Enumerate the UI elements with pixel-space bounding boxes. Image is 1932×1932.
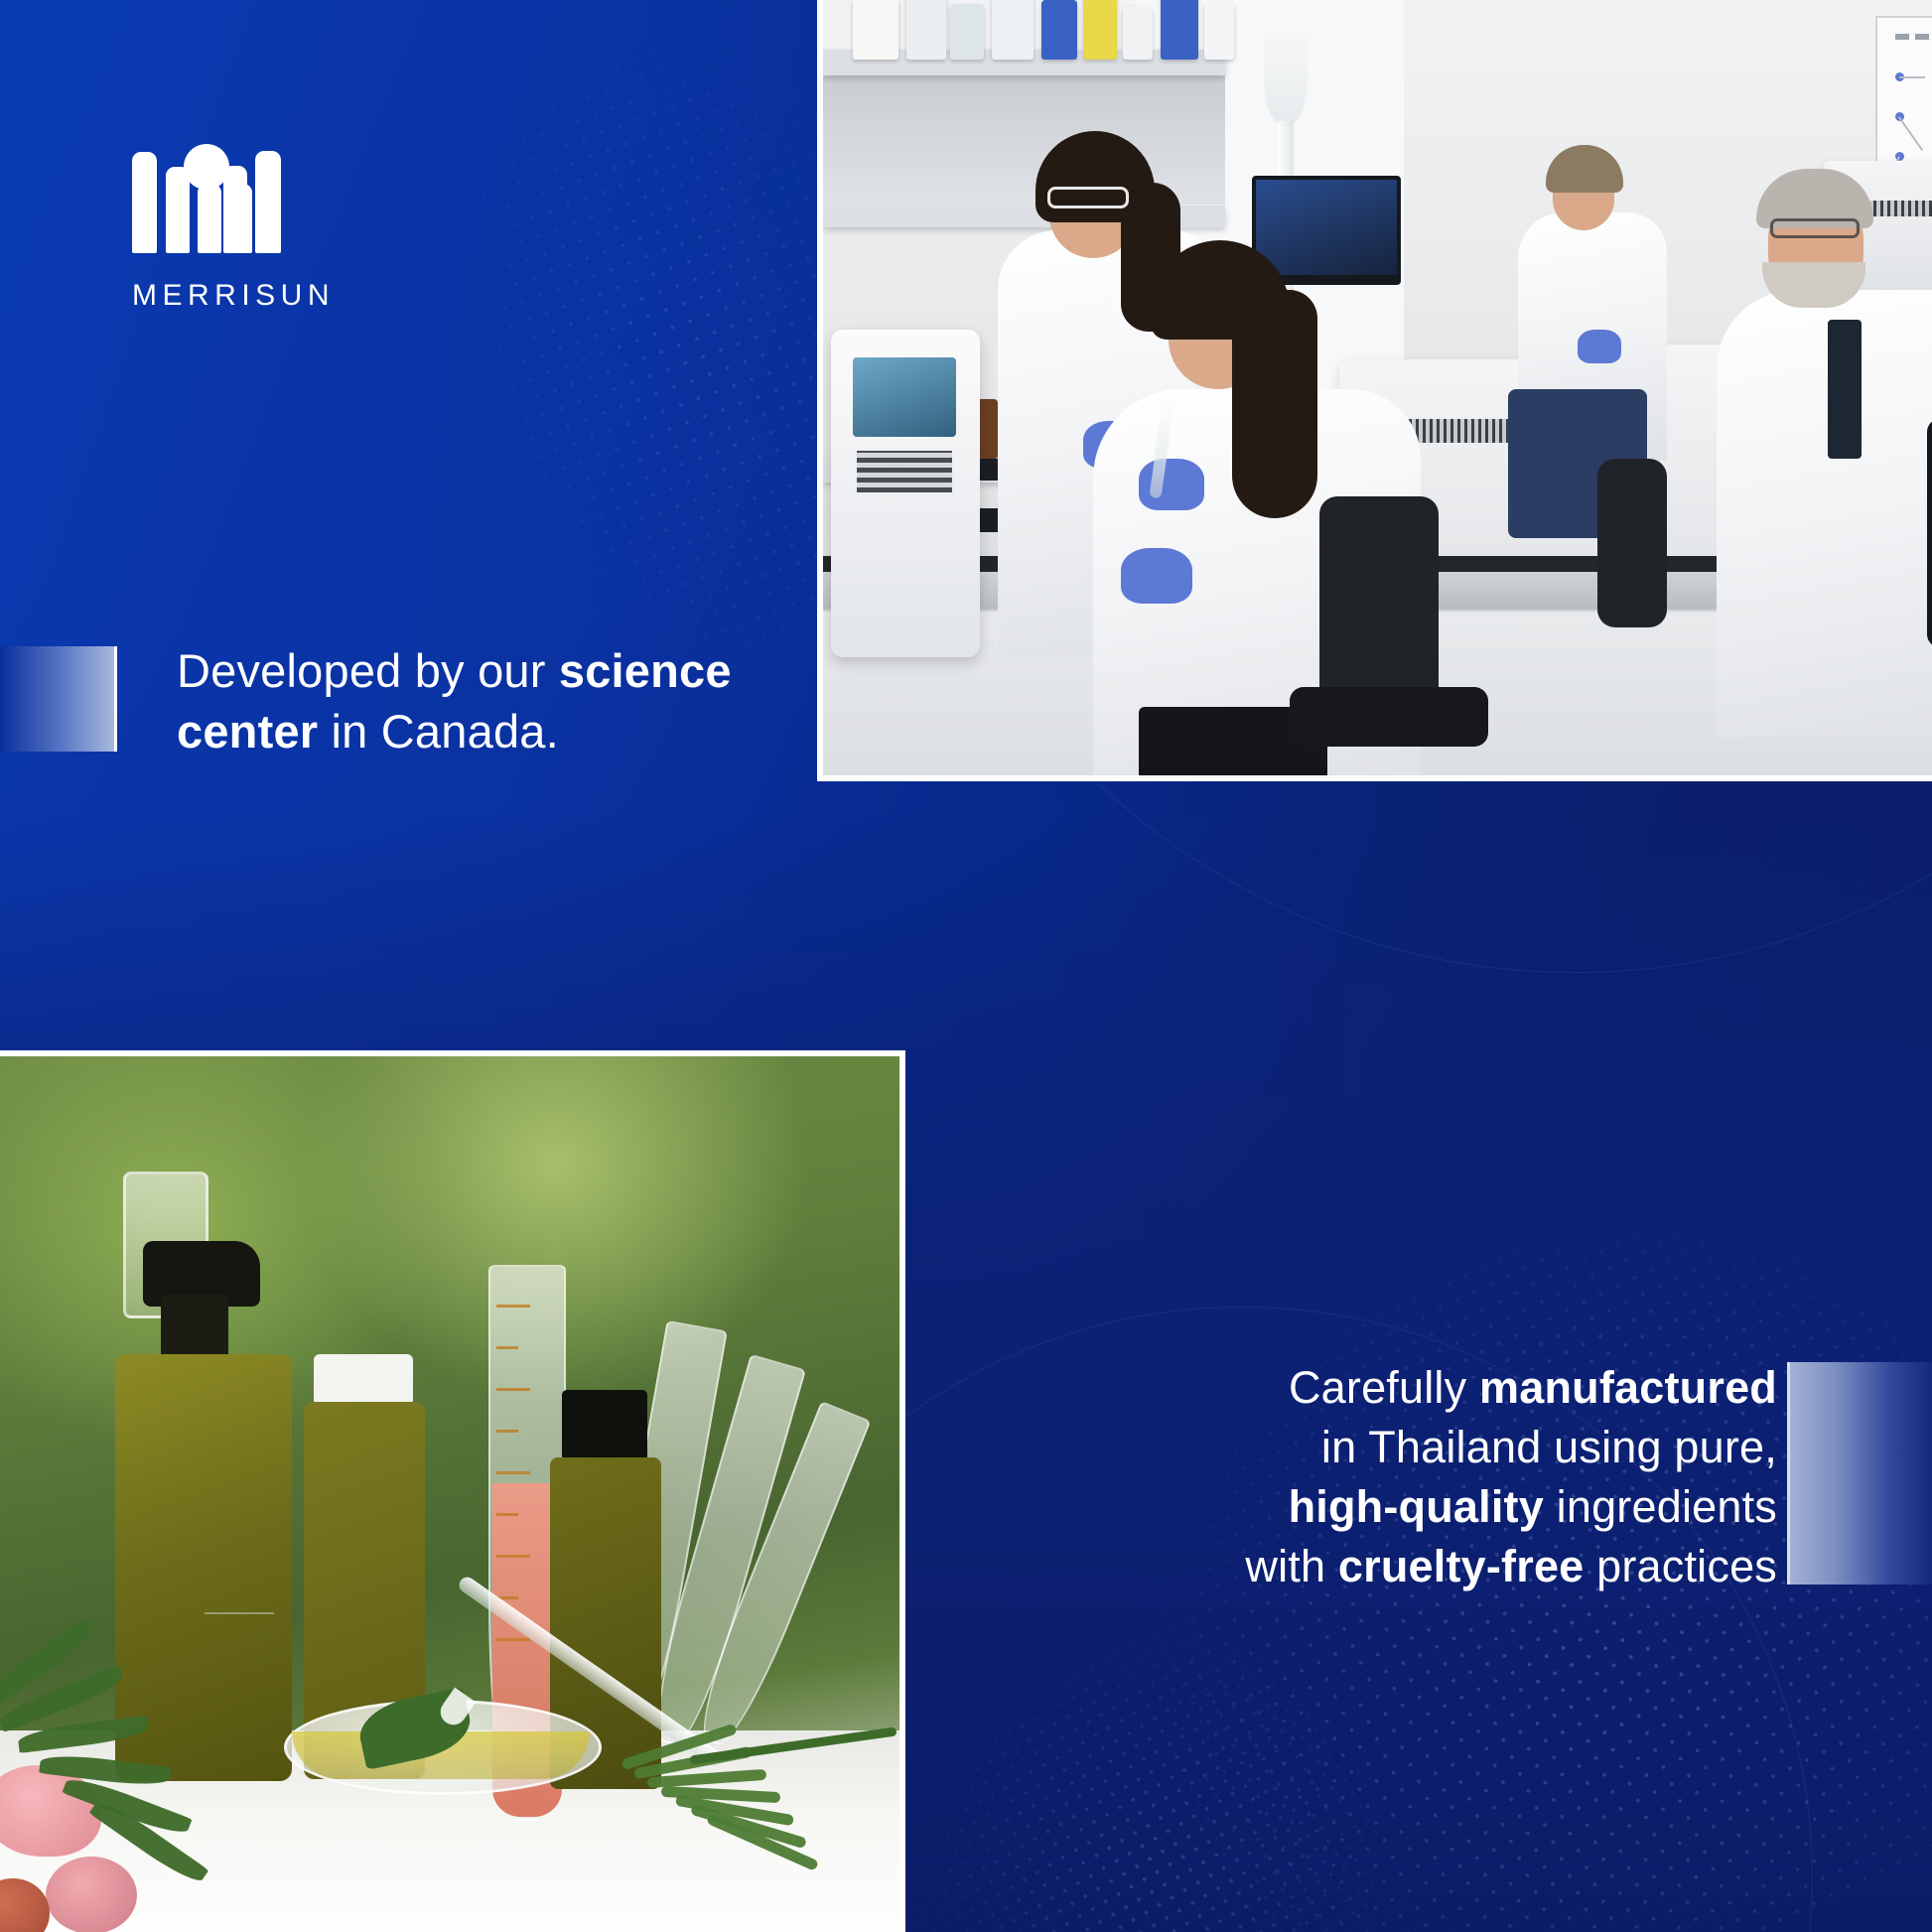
cylinder-graduation [496,1555,530,1558]
molecule-bond [1899,76,1925,78]
blue-glove [1121,548,1192,604]
glass-funnel [1264,32,1308,127]
product-bottles-photo [0,1050,905,1932]
eyeglasses [1770,218,1860,238]
cylinder-scale-label [502,1287,554,1303]
brand-logo: MERRISUN [132,142,335,313]
headline-manufactured-thailand: Carefully manufactured in Thailand using… [854,1358,1777,1595]
lab-coat [1717,290,1932,737]
black-cap [562,1390,647,1461]
accent-bar-right [1787,1362,1932,1585]
headline-line-1-plain: Developed by our [177,644,559,697]
reagent-bottle [1123,6,1153,60]
subcopy-line-4-tail: practices [1584,1541,1777,1591]
sun-over-bars-icon [132,142,281,253]
bottle-measure-mark [199,1493,274,1513]
blue-glove [1139,459,1204,510]
brand-wordmark: MERRISUN [132,279,335,313]
safety-goggles [1047,187,1129,208]
cylinder-graduation [496,1471,530,1474]
subcopy-line-1-bold: manufactured [1479,1362,1777,1413]
reagent-bottle [906,0,946,60]
subcopy-line-1: Carefully manufactured [854,1358,1777,1418]
cylinder-graduation [496,1638,530,1641]
headline-line-1-bold: science [559,644,732,697]
accent-bar-left [0,646,117,752]
cylinder-graduation [496,1388,530,1391]
subcopy-line-3-plain: ingredients [1544,1481,1777,1532]
cylinder-graduation [496,1305,530,1308]
subcopy-line-3-bold: high-quality [1289,1481,1544,1532]
reagent-bottle [853,0,898,60]
headline-developed-canada: Developed by our science center in Canad… [177,640,812,761]
molecule-bond [1898,116,1923,150]
subcopy-line-4: with cruelty-free practices [854,1537,1777,1596]
pink-flower [46,1857,137,1932]
white-cap [314,1354,413,1406]
necktie [1828,320,1862,459]
reagent-bottle [950,4,984,60]
headline-line-1: Developed by our science [177,640,812,701]
blue-glove [1578,330,1621,363]
subcopy-line-3: high-quality ingredients [854,1477,1777,1537]
subcopy-line-2: in Thailand using pure, [854,1418,1777,1477]
subcopy-line-1-plain: Carefully [1289,1362,1479,1413]
cylinder-graduation [496,1346,518,1349]
analyzer-screen [853,357,956,437]
poster-title-text [1895,34,1932,40]
headline-line-2-plain: in Canada. [318,705,559,758]
reagent-bottle [1161,0,1198,60]
subcopy-line-4-bold: cruelty-free [1338,1541,1585,1591]
science-lab-photo [817,0,1932,781]
cylinder-graduation [496,1513,518,1516]
reagent-bottle [992,0,1034,60]
ponytail [1232,290,1317,518]
subcopy-line-2-plain: in Thailand using pure, [1321,1422,1777,1472]
reagent-bottle [1041,0,1077,60]
monitor-screen [1256,180,1397,275]
analyzer-keypad [857,451,952,492]
reagent-bottle [1083,0,1117,60]
brand-graphic-canvas: MERRISUN Developed by our science center… [0,0,1932,1932]
chair-armrest [1927,419,1932,647]
reagent-bottle [1204,2,1234,60]
headline-line-2-bold: center [177,705,318,758]
office-chair-back [1597,459,1667,627]
subcopy-line-4-plain: with [1245,1541,1338,1591]
office-chair-seat [1290,687,1488,747]
cylinder-graduation [496,1430,518,1433]
bottle-measure-line [205,1612,274,1628]
headline-line-2: center in Canada. [177,701,812,761]
